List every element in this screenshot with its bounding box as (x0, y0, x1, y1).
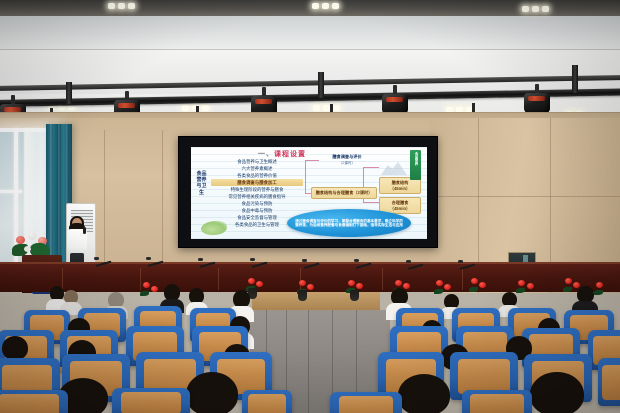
slide-list-item: 六大营养素概述 (211, 165, 303, 172)
desk-microphone (356, 260, 373, 269)
truss-drop-1 (66, 82, 72, 104)
slide-vertical-label: 食品营养与卫生 (196, 171, 207, 196)
ceiling-light-row-top-2 (312, 2, 339, 9)
audience-member-foreground (186, 372, 242, 413)
flower-leaf (469, 287, 478, 292)
box-label: 合理膳食 (392, 200, 409, 205)
person-head (186, 372, 238, 413)
flower-bloom (471, 278, 478, 284)
slide-title-text: 课程设置 (274, 151, 306, 158)
slide-list-item: 特殊生理阶段的营养与膳食 (211, 186, 303, 193)
flower-bloom (143, 282, 150, 288)
desk-microphone (96, 258, 113, 267)
slide-summary-ellipse: 通过膳食调查与评价的学习，掌握合理膳食的基本要求，确立科学的营养观，为后续营养配… (287, 209, 411, 237)
lecture-hall-scene: 一、课程设置 食品营养与卫生 食品营养与卫生概述 六大营养素概述 各类食品的营养… (0, 0, 620, 413)
person-head (2, 336, 28, 360)
audience-member-foreground (398, 374, 454, 413)
flower-bloom (565, 278, 572, 284)
flower-bloom (444, 284, 451, 290)
box-sublabel: （2课时） (339, 161, 355, 165)
slide-list-item: 食品中毒与预防 (211, 207, 303, 214)
slide-middle-box-2: 膳食结构与合理膳食（2课时） (311, 187, 377, 199)
rail-seam (382, 268, 383, 290)
flower-vase (298, 290, 307, 301)
box-label: 膳食结构与合理膳食（2课时） (316, 190, 373, 195)
desk-microphone (252, 259, 269, 268)
desk-microphone (200, 259, 217, 268)
slide-list-item: 各类食品的营养价值 (211, 172, 303, 179)
person-head (530, 372, 584, 413)
slide-connector-line (363, 202, 379, 203)
flower-bloom (527, 283, 534, 289)
flower-vase (350, 290, 359, 301)
flower-bloom (299, 280, 306, 286)
projection-screen[interactable]: 一、课程设置 食品营养与卫生 食品营养与卫生概述 六大营养素概述 各类食品的营养… (178, 136, 438, 248)
flower-bloom (16, 236, 25, 244)
flower-bloom (248, 278, 255, 284)
box-label: 膳食调查与评价 (332, 154, 361, 159)
flower-bloom (307, 284, 314, 290)
slide-title-prefix: 一、 (258, 151, 274, 158)
handheld-microphone (83, 227, 86, 234)
box-label: 膳食结构 (392, 180, 409, 185)
flower-bloom (24, 246, 31, 252)
audience-member-foreground (530, 372, 588, 413)
slide-middle-box-1: 膳食调查与评价 （2课时） (317, 154, 377, 166)
ceiling-light-row-top-3 (522, 5, 549, 12)
person-head (398, 374, 450, 413)
flower-bloom (348, 280, 355, 286)
desk-microphone (408, 261, 425, 270)
bamboo-decoration: 食品营养 (410, 150, 421, 180)
slide-list-item: 食品营养与卫生概述 (211, 158, 303, 165)
flower-leaf (140, 291, 149, 296)
auditorium-seat[interactable] (0, 390, 68, 413)
ellipse-text: 通过膳食调查与评价的学习，掌握合理膳食的基本要求，确立科学的营养观，为后续营养配… (287, 219, 411, 228)
slide-connector-line (363, 167, 379, 168)
auditorium-seat[interactable] (598, 358, 620, 406)
desk-microphone (460, 261, 477, 270)
rail-seam (462, 268, 463, 290)
window-mullion-horizontal (0, 190, 22, 193)
flower-arrangement (140, 282, 160, 302)
bamboo-label: 食品营养 (413, 152, 418, 165)
aisle-plank (308, 310, 309, 413)
ceiling-soffit (0, 16, 620, 50)
flower-bloom (395, 280, 402, 286)
box-sublabel: （45min） (390, 206, 410, 211)
desk-microphone (304, 260, 321, 269)
box-sublabel: （45min） (390, 186, 410, 191)
auditorium-seat[interactable] (242, 390, 292, 413)
flower-bloom (151, 286, 158, 292)
auditorium-seat[interactable] (112, 388, 190, 413)
flower-arrangement (468, 278, 488, 298)
slide-list-item: 食品污染与预防 (211, 200, 303, 207)
slide-connector-line (305, 160, 306, 194)
slide-list-item-highlighted: 膳食调查与膳食加工 (211, 179, 303, 186)
slide-left-column: 食品营养与卫生概述 六大营养素概述 各类食品的营养价值 膳食调查与膳食加工 特殊… (211, 158, 303, 228)
desk-microphone (148, 258, 165, 267)
wall-panel-seam (430, 196, 620, 197)
truss-drop-3 (572, 65, 578, 93)
flower-bloom (356, 283, 363, 289)
auditorium-seat[interactable] (462, 390, 532, 413)
flower-bloom (256, 281, 263, 287)
wall-panel-seam (162, 130, 163, 264)
truss-drop-2 (318, 72, 324, 98)
flower-bloom (479, 282, 486, 288)
rail-seam (218, 268, 219, 290)
wall-panel-seam (104, 130, 105, 264)
flower-bloom (28, 232, 36, 240)
ceiling-light-row-mid-3 (313, 104, 340, 111)
presentation-slide: 一、课程设置 食品营养与卫生 食品营养与卫生概述 六大营养素概述 各类食品的营养… (191, 147, 427, 239)
ceiling-light-row-top-1 (108, 2, 135, 9)
flower-leaf (563, 287, 572, 292)
flower-bloom (436, 280, 443, 286)
auditorium-seat[interactable] (330, 392, 402, 413)
slide-list-item: 常见营养相关疾病的膳食指导 (211, 193, 303, 200)
flower-bloom (518, 280, 525, 286)
